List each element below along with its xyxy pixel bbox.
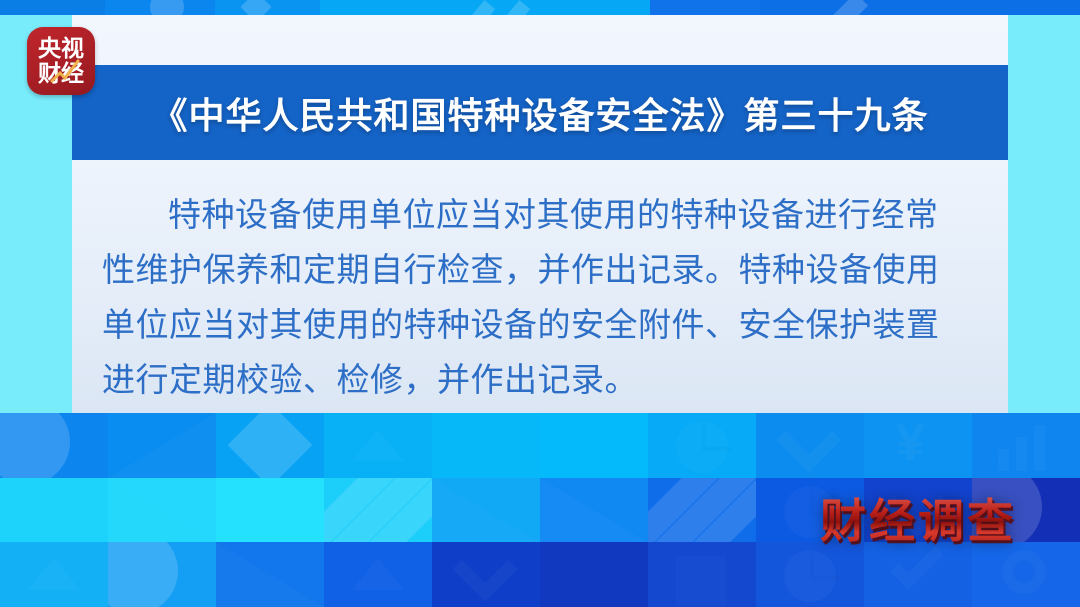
mosaic-tile: [216, 478, 324, 543]
mosaic-tile: [756, 542, 864, 607]
mosaic-circle-icon: [0, 413, 70, 478]
mosaic-tile: [432, 413, 540, 478]
mosaic-tile: [756, 413, 864, 478]
mosaic-arrow-up-icon: [28, 558, 80, 590]
mosaic-chevron-down-icon: [452, 542, 517, 602]
mosaic-tile: [324, 542, 432, 607]
mosaic-triangle-icon: [540, 478, 648, 543]
broadcast-graphic-stage: 《中华人民共和国特种设备安全法》第三十九条 特种设备使用单位应当对其使用的特种设…: [0, 0, 1080, 607]
body-line-4: 进行定期校验、检修，并作出记录。: [102, 352, 980, 407]
mosaic-triangle-icon: [432, 478, 540, 543]
mosaic-circle-icon: [108, 542, 178, 607]
mosaic-tile: [324, 413, 432, 478]
program-watermark: 财经调查: [820, 485, 1016, 551]
mosaic-triangle-icon: [108, 413, 216, 478]
strip-diamond-icon: [240, 0, 271, 15]
card-header-bar: 《中华人民共和国特种设备安全法》第三十九条: [72, 65, 1008, 160]
strip-slash-icon: [830, 0, 868, 15]
mosaic-tile: [108, 478, 216, 543]
mosaic-square-icon: [676, 556, 726, 606]
mosaic-triangle-icon: [108, 478, 216, 543]
strip-slash-icon: [494, 0, 530, 15]
logo-text-line-2: 财经: [38, 61, 84, 86]
card-body-text: 特种设备使用单位应当对其使用的特种设备进行经常 性维护保养和定期自行检查，并作出…: [72, 175, 1008, 413]
mosaic-bar-chart-icon: [998, 423, 1054, 471]
page-title: 《中华人民共和国特种设备安全法》第三十九条: [151, 87, 928, 139]
mosaic-arrow-up-icon: [352, 429, 404, 461]
mosaic-tile: [864, 542, 972, 607]
mosaic-diamond-icon: [228, 413, 313, 478]
mosaic-tile: [972, 413, 1080, 478]
mosaic-tile: [0, 478, 108, 543]
mosaic-magnifier-icon: [1002, 550, 1046, 594]
mosaic-tile: [972, 542, 1080, 607]
mosaic-chevron-down-icon: [776, 413, 841, 473]
mosaic-tile: [324, 478, 432, 543]
mosaic-tile: [648, 478, 756, 543]
mosaic-tile: ¥: [864, 413, 972, 478]
mosaic-tile: [648, 413, 756, 478]
top-decorative-strip: [0, 0, 1080, 15]
mosaic-yen-icon: ¥: [896, 417, 925, 469]
body-line-2: 性维护保养和定期自行检查，并作出记录。特种设备使用: [102, 242, 980, 297]
right-cyan-rail: [1008, 15, 1080, 413]
mosaic-tile: [108, 413, 216, 478]
strip-circle-icon: [150, 0, 184, 15]
mosaic-tile: [216, 413, 324, 478]
mosaic-tile: [108, 542, 216, 607]
logo-text-line-2-label: 财经: [38, 60, 84, 86]
mosaic-tile: [432, 478, 540, 543]
strip-slash-icon: [459, 0, 495, 15]
mosaic-arrow-up-icon: [352, 558, 404, 590]
mosaic-pie-chart-icon: [784, 550, 836, 602]
mosaic-tile: [0, 542, 108, 607]
cctv-finance-logo: 央视 财经: [27, 27, 95, 95]
law-quote-card: 《中华人民共和国特种设备安全法》第三十九条 特种设备使用单位应当对其使用的特种设…: [72, 15, 1008, 413]
logo-text-line-1: 央视: [38, 36, 84, 61]
mosaic-tile: [540, 413, 648, 478]
mosaic-tile: [540, 478, 648, 543]
mosaic-tile: [648, 542, 756, 607]
mosaic-tile: [432, 542, 540, 607]
mosaic-tile: [0, 413, 108, 478]
mosaic-tile: [216, 542, 324, 607]
body-line-1: 特种设备使用单位应当对其使用的特种设备进行经常: [102, 187, 980, 242]
mosaic-triangle-icon: [216, 542, 324, 607]
mosaic-tile: [540, 542, 648, 607]
mosaic-triangle-icon: [0, 478, 108, 543]
body-line-3: 单位应当对其使用的特种设备的安全附件、安全保护装置: [102, 297, 980, 352]
mosaic-pie-chart-icon: [676, 421, 728, 473]
